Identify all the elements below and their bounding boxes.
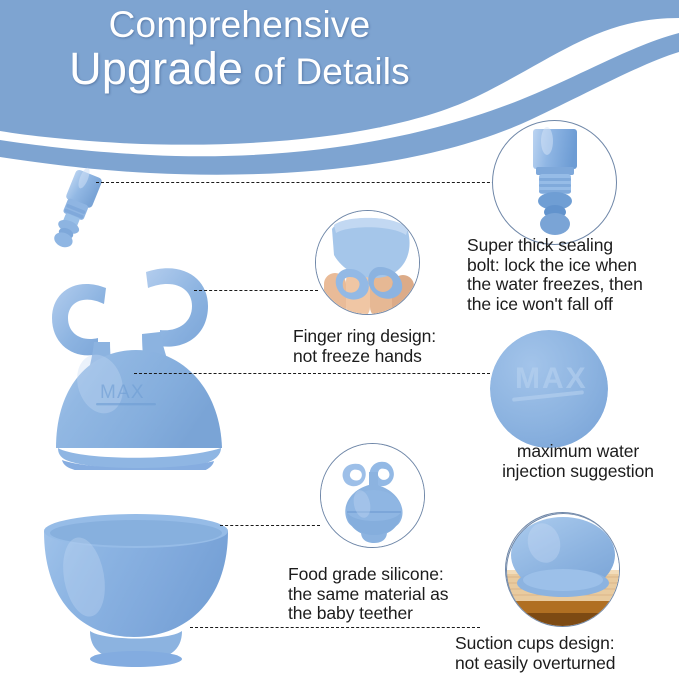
page-title: Comprehensive Upgrade of Details [0, 4, 679, 95]
assembled-product-icon [321, 444, 425, 548]
connector-line-sealing-bolt [96, 182, 520, 183]
lid-max-text: MAX [100, 382, 145, 403]
callout-circle-suction [505, 512, 620, 627]
title-line-1: Comprehensive [0, 4, 479, 46]
callout-circle-max: MAX [490, 330, 608, 448]
connector-line-silicone [220, 525, 320, 526]
title-emphasis: Upgrade [69, 43, 243, 94]
callout-circle-sealing-bolt [492, 120, 617, 245]
suction-on-wood-icon [506, 513, 620, 627]
product-lid-assembly: MAX [18, 160, 268, 470]
max-emboss-icon: MAX [490, 330, 608, 448]
product-bowl [12, 495, 262, 675]
callout-circle-finger-ring [315, 210, 420, 315]
finger-ring-hand-icon [316, 211, 420, 315]
infographic-canvas: Comprehensive Upgrade of Details [0, 0, 679, 679]
caption-sealing-bolt: Super thick sealing bolt: lock the ice w… [467, 236, 677, 314]
callout-circle-silicone [320, 443, 425, 548]
connector-line-finger-ring [194, 290, 318, 291]
sealing-bolt-icon [493, 121, 617, 245]
title-line-2-rest: of Details [243, 51, 410, 92]
connector-line-suction [190, 627, 480, 628]
caption-silicone: Food grade silicone: the same material a… [288, 565, 488, 624]
sealing-bolt-part [48, 164, 105, 251]
title-line-2: Upgrade of Details [0, 46, 479, 95]
caption-max: maximum water injection suggestion [478, 442, 678, 481]
connector-line-max [134, 373, 490, 374]
caption-suction: Suction cups design: not easily overturn… [455, 634, 679, 673]
wood-edge [506, 601, 620, 615]
caption-finger-ring: Finger ring design: not freeze hands [293, 327, 478, 366]
max-emboss-text: MAX [515, 362, 588, 395]
